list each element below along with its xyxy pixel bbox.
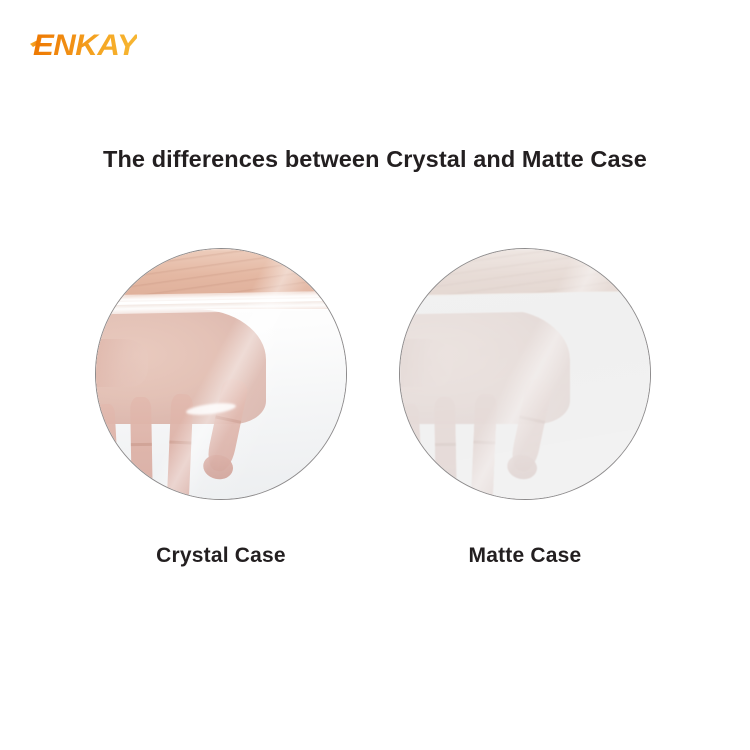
caption-crystal-case: Crystal Case bbox=[95, 544, 347, 568]
brand-logo: ENKAY bbox=[33, 26, 213, 66]
brand-name: ENKAY bbox=[33, 26, 137, 66]
matte-case-photo bbox=[399, 248, 651, 500]
matte-frost-overlay bbox=[400, 249, 650, 499]
case-gloss-reflection bbox=[96, 249, 346, 499]
comparison-item-crystal: Crystal Case bbox=[95, 248, 349, 568]
comparison-area: Crystal Case Matte Case bbox=[0, 248, 750, 578]
crystal-case-photo bbox=[95, 248, 347, 500]
caption-matte-case: Matte Case bbox=[399, 544, 651, 568]
crystal-photo-content bbox=[96, 249, 346, 499]
comparison-item-matte: Matte Case bbox=[399, 248, 653, 568]
page-title: The differences between Crystal and Matt… bbox=[0, 146, 750, 173]
